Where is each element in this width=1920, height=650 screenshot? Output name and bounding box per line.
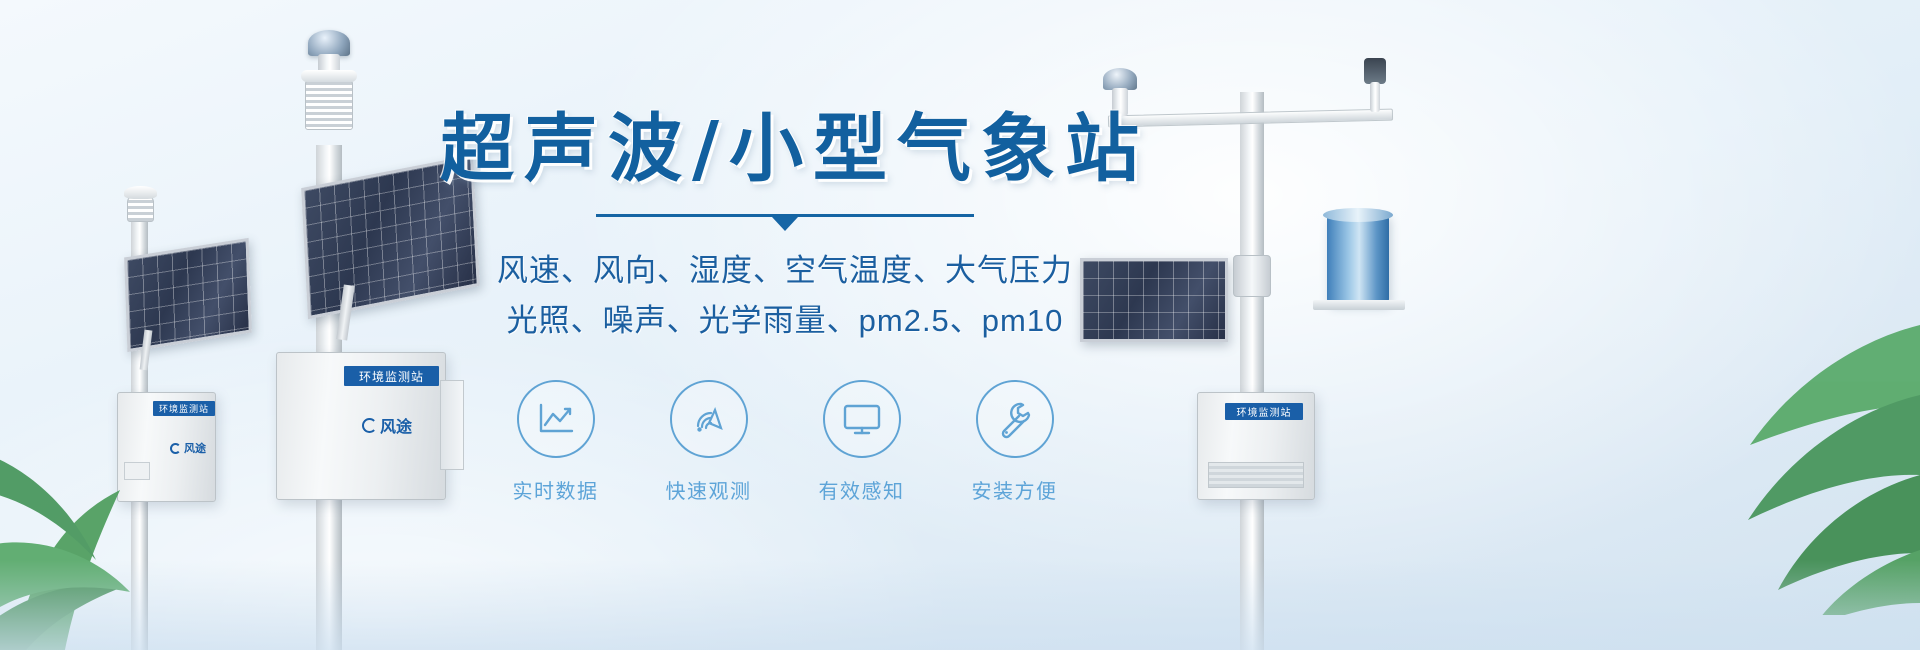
feature-item-effective-sensing[interactable]: 有效感知	[805, 380, 918, 504]
banner-text-block: 超声波/小型气象站 风速、风向、湿度、空气温度、大气压力 光照、噪声、光学雨量、…	[440, 112, 1130, 542]
feature-label: 快速观测	[652, 475, 765, 504]
leaf-decoration-right	[1620, 285, 1920, 615]
middle-station-brand-text: 风途	[380, 413, 412, 437]
right-station-rain-gauge-base	[1313, 300, 1405, 310]
right-station-rain-gauge-rim	[1323, 208, 1393, 222]
subtitle-line-1: 风速、风向、湿度、空气温度、大气压力	[440, 246, 1130, 296]
right-station-ultrasonic-sensor	[1103, 68, 1137, 90]
right-station-enclosure-vent	[1208, 462, 1304, 488]
line-chart-icon	[535, 400, 577, 438]
right-station-camera-sensor	[1364, 58, 1386, 84]
feature-label: 有效感知	[805, 475, 918, 504]
left-station-radiation-shield	[127, 196, 154, 222]
middle-station-shield-cap	[301, 70, 357, 82]
page-title: 超声波/小型气象站	[440, 112, 1130, 186]
middle-station-nameplate-text: 环境监测站	[359, 368, 424, 385]
middle-station-brand: 风途	[362, 413, 412, 437]
feature-item-fast-observation[interactable]: 快速观测	[652, 380, 765, 504]
feature-icon-circle	[976, 380, 1054, 458]
wrench-icon	[995, 399, 1035, 439]
monitor-icon	[841, 401, 883, 437]
subtitle-line-2: 光照、噪声、光学雨量、pm2.5、pm10	[440, 296, 1130, 346]
subtitle-group: 风速、风向、湿度、空气温度、大气压力 光照、噪声、光学雨量、pm2.5、pm10	[440, 246, 1130, 346]
right-station-nameplate-text: 环境监测站	[1237, 404, 1292, 419]
feature-icon-circle	[670, 380, 748, 458]
middle-station-nameplate: 环境监测站	[344, 366, 439, 386]
right-station-mast	[1240, 92, 1264, 650]
feature-item-easy-installation[interactable]: 安装方便	[958, 380, 1071, 504]
title-divider	[596, 214, 974, 232]
right-station-rain-gauge	[1327, 215, 1389, 305]
product-banner: 环境监测站 风途 环境监测站 风途	[0, 0, 1920, 650]
right-station-camera-stem	[1370, 82, 1380, 112]
radar-signal-icon	[689, 399, 729, 439]
middle-station-radiation-shield	[305, 78, 353, 130]
divider-triangle-icon	[772, 217, 798, 231]
right-station-collar	[1233, 255, 1271, 297]
feature-item-realtime-data[interactable]: 实时数据	[499, 380, 612, 504]
left-station-sensor-cap	[124, 186, 157, 199]
feature-list: 实时数据 快速观测	[440, 380, 1130, 504]
right-station-nameplate: 环境监测站	[1225, 403, 1303, 420]
middle-station-ultrasonic-anemometer	[308, 30, 350, 56]
feature-label: 实时数据	[499, 475, 612, 504]
feature-icon-circle	[823, 380, 901, 458]
feature-icon-circle	[517, 380, 595, 458]
feature-label: 安装方便	[958, 475, 1071, 504]
leaf-decoration-left	[0, 330, 190, 650]
middle-station-brand-mark	[362, 418, 377, 433]
